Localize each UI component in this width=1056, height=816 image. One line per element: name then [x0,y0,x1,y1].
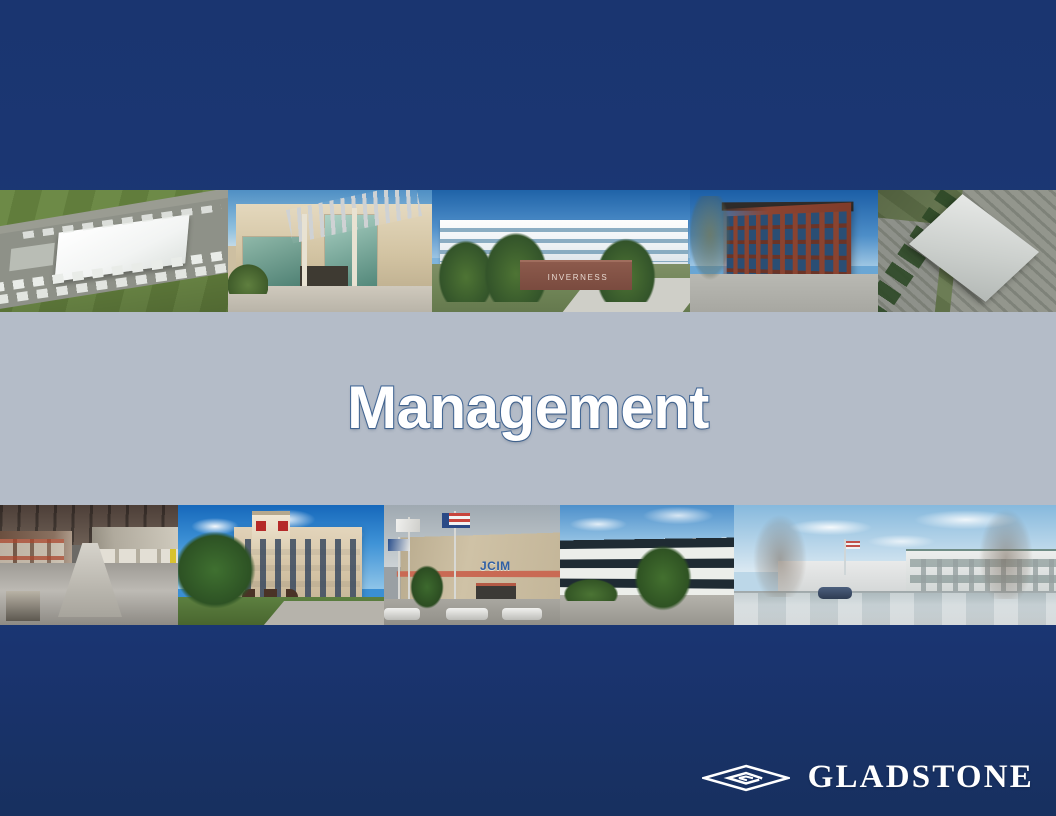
gladstone-wordmark: GLADSTONE [808,761,1034,794]
state-flag [388,539,410,551]
building-signage-text: JCIM [480,559,511,573]
tower-accent [256,521,266,531]
photo-brick-midrise-office [690,190,878,312]
gladstone-logo: GLADSTONE [702,761,1034,794]
parked-car [818,587,852,599]
flagpole [844,539,846,575]
canopy-column [352,208,357,298]
bare-tree [752,513,808,597]
window-grid [727,211,847,278]
photo-warehouse-interior [0,505,178,625]
photo-glass-banded-office [560,505,734,625]
bare-tree [690,196,732,282]
photo-winter-flex-building [734,505,1056,625]
parked-car [446,608,488,620]
presentation-slide: INVERNESS Management [0,0,1056,816]
street [264,601,384,625]
us-flag [442,513,470,528]
monument-sign-text: INVERNESS [524,273,632,282]
parked-car [502,608,542,620]
photo-inverness-office-campus: INVERNESS [432,190,690,312]
title-band: Management [0,312,1056,505]
slide-title: Management [347,378,709,438]
forklift [6,591,40,621]
corporate-flag [396,519,420,532]
photo-aerial-office-campus [878,190,1056,312]
gladstone-diamond-logo-icon [702,763,790,793]
foreground-tree [178,531,256,609]
tree [634,545,692,611]
photo-aerial-distribution-center [0,190,228,312]
tree [410,565,444,609]
photo-strip-bottom: JCIM [0,505,1056,625]
tower-accent [278,521,288,531]
photo-hotel-apartment-building [178,505,384,625]
photo-jcim-industrial-building: JCIM [384,505,560,625]
photo-strip-top: INVERNESS [0,190,1056,312]
photo-tan-office-canopy [228,190,432,312]
landscaping [228,264,268,294]
parked-car [384,608,420,620]
landscaping [564,579,618,601]
bare-tree [978,507,1034,599]
